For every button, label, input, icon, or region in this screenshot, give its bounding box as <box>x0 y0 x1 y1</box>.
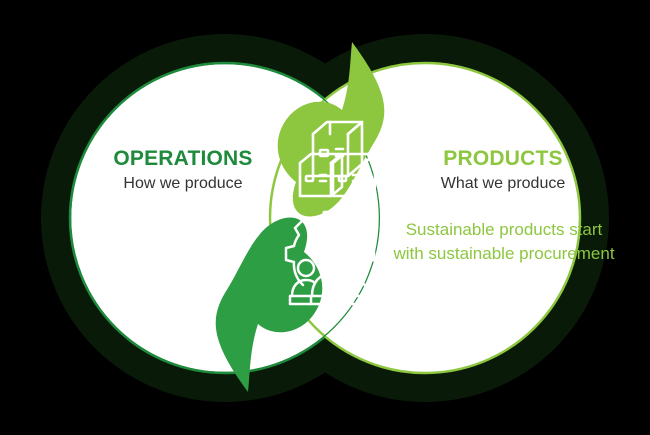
operations-subtitle: How we produce <box>48 174 318 194</box>
products-label-block: PRODUCTS What we produce <box>378 148 628 194</box>
diagram-canvas: OPERATIONS How we produce PRODUCTS What … <box>0 0 650 435</box>
operations-label-block: OPERATIONS How we produce <box>48 148 318 194</box>
operations-title: OPERATIONS <box>48 148 318 170</box>
products-note-text: Sustainable products start with sustaina… <box>390 218 618 266</box>
products-title: PRODUCTS <box>378 148 628 170</box>
products-subtitle: What we produce <box>378 174 628 194</box>
